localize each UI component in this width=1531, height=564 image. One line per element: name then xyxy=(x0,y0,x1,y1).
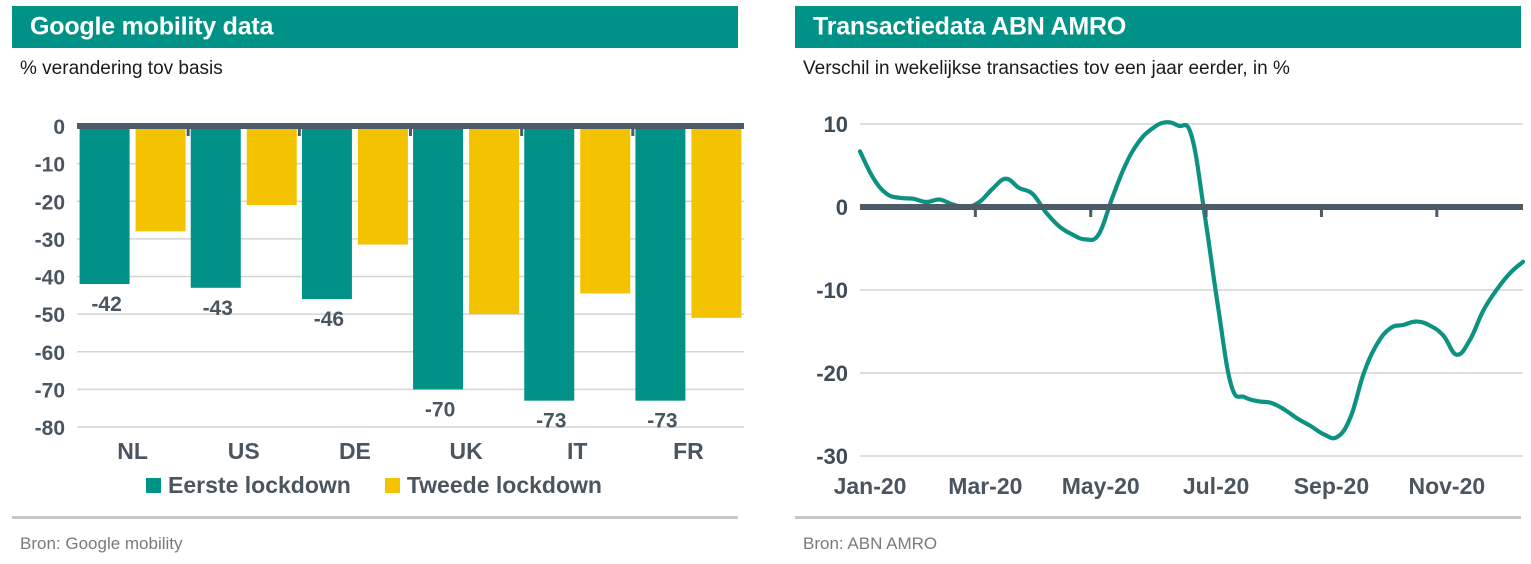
svg-text:-20: -20 xyxy=(35,191,65,214)
svg-text:-70: -70 xyxy=(35,379,65,402)
svg-text:May-20: May-20 xyxy=(1062,473,1140,499)
svg-text:-42: -42 xyxy=(91,293,121,316)
svg-text:UK: UK xyxy=(449,438,483,464)
legend-item-eerste-lockdown[interactable]: Eerste lockdown xyxy=(146,472,351,499)
svg-text:10: 10 xyxy=(824,112,848,137)
svg-text:Sep-20: Sep-20 xyxy=(1294,473,1369,499)
svg-text:-73: -73 xyxy=(647,410,677,433)
svg-text:-43: -43 xyxy=(203,297,233,320)
panel-subtitle-left: % verandering tov basis xyxy=(20,58,223,80)
page-title-right: Transactiedata ABN AMRO xyxy=(813,13,1126,42)
svg-text:Jul-20: Jul-20 xyxy=(1183,473,1249,499)
bar-chart-legend: Eerste lockdown Tweede lockdown xyxy=(0,472,748,499)
line-series-path xyxy=(860,122,1523,438)
svg-text:-60: -60 xyxy=(35,342,65,365)
source-note-right: Bron: ABN AMRO xyxy=(803,534,937,554)
legend-item-tweede-lockdown[interactable]: Tweede lockdown xyxy=(385,472,602,499)
svg-text:-30: -30 xyxy=(816,444,848,469)
bar-chart-svg: 0-10-20-30-40-50-60-70-80 -42-43-46-70-7… xyxy=(0,100,748,510)
divider-left xyxy=(12,516,738,519)
svg-text:-70: -70 xyxy=(425,398,455,421)
svg-text:IT: IT xyxy=(567,438,587,464)
line-zero-axis xyxy=(860,207,1523,217)
svg-text:Nov-20: Nov-20 xyxy=(1408,473,1485,499)
svg-text:0: 0 xyxy=(53,116,65,139)
svg-text:-73: -73 xyxy=(536,410,566,433)
svg-text:DE: DE xyxy=(339,438,371,464)
svg-text:-30: -30 xyxy=(35,229,65,252)
page-title-left: Google mobility data xyxy=(30,13,273,42)
legend-label-tweede-lockdown: Tweede lockdown xyxy=(407,472,602,499)
line-chart-svg: 100-10-20-30 Jan-20Mar-20May-20Jul-20Sep… xyxy=(783,100,1531,510)
panel-subtitle-right: Verschil in wekelijkse transacties tov e… xyxy=(803,58,1290,80)
svg-text:-10: -10 xyxy=(816,278,848,303)
svg-text:0: 0 xyxy=(836,195,848,220)
svg-text:-50: -50 xyxy=(35,304,65,327)
svg-text:US: US xyxy=(228,438,260,464)
svg-text:Jan-20: Jan-20 xyxy=(834,473,907,499)
svg-text:-46: -46 xyxy=(314,308,344,331)
bar-series-group xyxy=(80,126,742,401)
panel-header-right: Transactiedata ABN AMRO xyxy=(795,6,1521,48)
line-x-axis-labels: Jan-20Mar-20May-20Jul-20Sep-20Nov-20 xyxy=(834,473,1486,499)
svg-text:-20: -20 xyxy=(816,361,848,386)
svg-text:FR: FR xyxy=(673,438,704,464)
panel-abn-amro-transactions: Transactiedata ABN AMRO Verschil in weke… xyxy=(783,0,1531,564)
svg-text:NL: NL xyxy=(117,438,148,464)
line-y-axis-labels: 100-10-20-30 xyxy=(816,112,848,469)
panel-google-mobility: Google mobility data % verandering tov b… xyxy=(0,0,748,564)
source-note-left: Bron: Google mobility xyxy=(20,534,183,554)
bar-y-axis-labels: 0-10-20-30-40-50-60-70-80 xyxy=(35,116,65,440)
svg-text:-80: -80 xyxy=(35,417,65,440)
panel-header-left: Google mobility data xyxy=(12,6,738,48)
legend-swatch-eerste-lockdown xyxy=(146,478,161,493)
dashboard-root: Google mobility data % verandering tov b… xyxy=(0,0,1531,564)
svg-text:Mar-20: Mar-20 xyxy=(948,473,1022,499)
line-chart: 100-10-20-30 Jan-20Mar-20May-20Jul-20Sep… xyxy=(783,100,1531,510)
bar-x-axis-labels: NLUSDEUKITFR xyxy=(117,438,704,464)
svg-text:-40: -40 xyxy=(35,267,65,290)
legend-swatch-tweede-lockdown xyxy=(385,478,400,493)
svg-text:-10: -10 xyxy=(35,154,65,177)
legend-label-eerste-lockdown: Eerste lockdown xyxy=(168,472,351,499)
divider-right xyxy=(795,516,1521,519)
line-gridlines xyxy=(860,124,1523,456)
bar-chart: 0-10-20-30-40-50-60-70-80 -42-43-46-70-7… xyxy=(0,100,748,510)
